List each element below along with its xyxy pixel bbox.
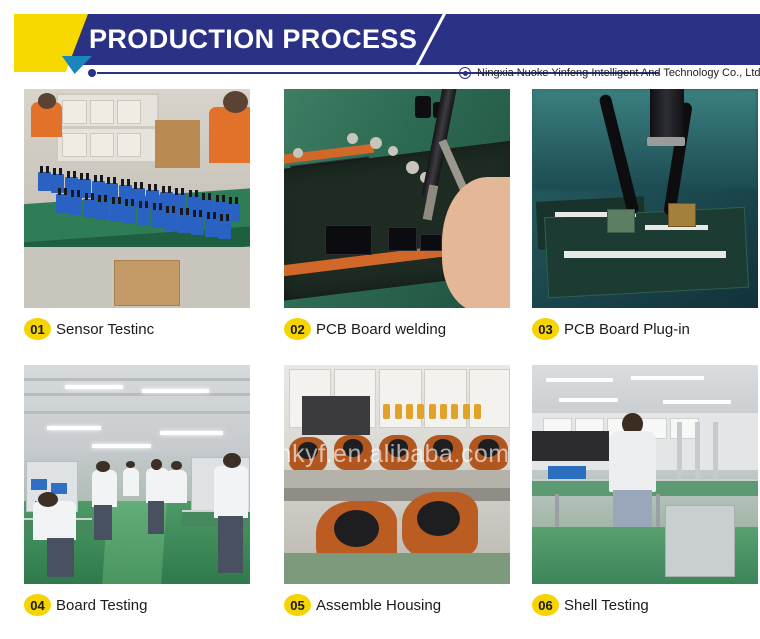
page-title: PRODUCTION PROCESS [89, 23, 417, 55]
step-caption: 05 Assemble Housing [284, 590, 510, 620]
step-caption: 04 Board Testing [24, 590, 250, 620]
page-header: PRODUCTION PROCESS Ningxia Nuoke Yinfeng… [0, 0, 760, 88]
step-caption: 03 PCB Board Plug-in [532, 314, 758, 344]
step-number-badge: 03 [532, 318, 559, 340]
step-photo-sensor-testing [24, 89, 250, 308]
step-label: PCB Board Plug-in [564, 321, 690, 338]
process-step-card[interactable]: 01 Sensor Testinc [24, 89, 250, 344]
step-label: Sensor Testinc [56, 321, 154, 338]
process-step-card[interactable]: 03 PCB Board Plug-in [532, 89, 758, 344]
step-photo-pcb-welding [284, 89, 510, 308]
step-caption: 01 Sensor Testinc [24, 314, 250, 344]
step-number-badge: 01 [24, 318, 51, 340]
step-caption: 06 Shell Testing [532, 590, 758, 620]
step-number-badge: 06 [532, 594, 559, 616]
step-number-badge: 05 [284, 594, 311, 616]
step-label: Board Testing [56, 597, 147, 614]
step-label: Shell Testing [564, 597, 649, 614]
step-photo-pcb-plugin [532, 89, 758, 308]
process-grid: 01 Sensor Testinc [0, 88, 760, 639]
step-number-badge: 04 [24, 594, 51, 616]
step-label: PCB Board welding [316, 321, 446, 338]
process-step-card[interactable]: 06 Shell Testing [532, 365, 758, 620]
company-name: Ningxia Nuoke Yinfeng Intelligent And Te… [477, 66, 760, 80]
process-step-card[interactable]: 05 Assemble Housing [284, 365, 510, 620]
step-photo-shell-testing [532, 365, 758, 584]
process-step-card[interactable]: 02 PCB Board welding [284, 89, 510, 344]
step-photo-board-testing [24, 365, 250, 584]
target-dot-icon [459, 67, 471, 79]
step-label: Assemble Housing [316, 597, 441, 614]
step-number-badge: 02 [284, 318, 311, 340]
process-step-card[interactable]: 04 Board Testing [24, 365, 250, 620]
step-caption: 02 PCB Board welding [284, 314, 510, 344]
bullet-dot-icon [88, 69, 96, 77]
step-photo-assemble-housing [284, 365, 510, 584]
